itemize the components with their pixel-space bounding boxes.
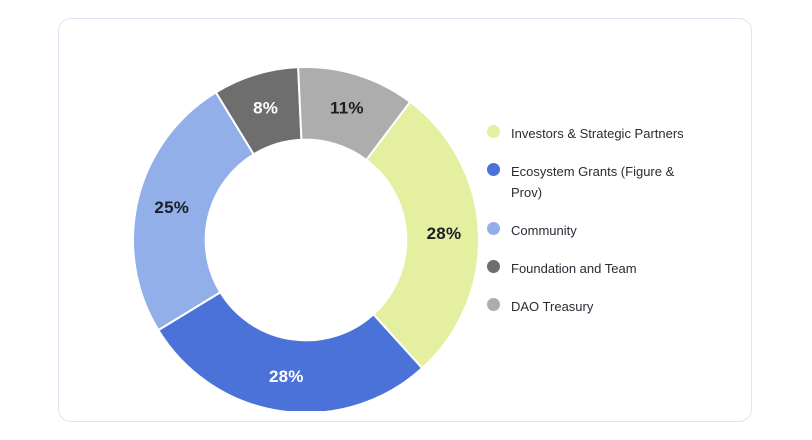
chart-card: 28%28%25%8%11% Investors & Strategic Par… <box>58 18 752 422</box>
chart-legend: Investors & Strategic PartnersEcosystem … <box>487 123 717 317</box>
legend-color-swatch-icon <box>487 260 500 273</box>
legend-color-swatch-icon <box>487 222 500 235</box>
donut-chart: 28%28%25%8%11% <box>133 31 479 411</box>
legend-item[interactable]: Investors & Strategic Partners <box>487 123 717 144</box>
legend-item-label: Investors & Strategic Partners <box>511 123 684 144</box>
legend-item[interactable]: Community <box>487 220 717 241</box>
legend-item[interactable]: Foundation and Team <box>487 258 717 279</box>
donut-slice-label: 8% <box>253 98 278 117</box>
legend-item-label: DAO Treasury <box>511 296 593 317</box>
legend-color-swatch-icon <box>487 163 500 176</box>
legend-item-label: Foundation and Team <box>511 258 637 279</box>
legend-color-swatch-icon <box>487 125 500 138</box>
legend-color-swatch-icon <box>487 298 500 311</box>
legend-item[interactable]: Ecosystem Grants (Figure & Prov) <box>487 161 717 203</box>
donut-chart-svg: 28%28%25%8%11% <box>133 31 479 411</box>
legend-item[interactable]: DAO Treasury <box>487 296 717 317</box>
donut-slice[interactable] <box>133 92 254 330</box>
donut-slice-label: 28% <box>269 367 304 386</box>
legend-item-label: Community <box>511 220 577 241</box>
donut-slice-label: 28% <box>427 224 462 243</box>
legend-item-label: Ecosystem Grants (Figure & Prov) <box>511 161 697 203</box>
donut-slice-label: 25% <box>154 198 189 217</box>
donut-slice-label: 11% <box>330 99 364 118</box>
